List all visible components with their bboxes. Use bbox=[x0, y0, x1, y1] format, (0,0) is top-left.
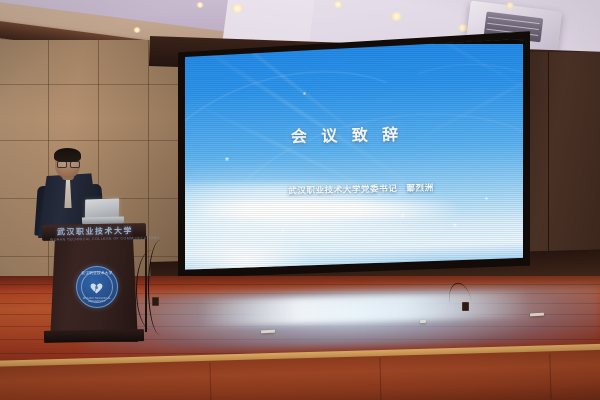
speaker-hair bbox=[54, 148, 81, 162]
sparkle-icon bbox=[303, 92, 306, 95]
university-seal-icon: 武汉职业技术大学 WUHAN TECHNICAL UNIVERSITY bbox=[76, 266, 118, 308]
seal-top-text: 武汉职业技术大学 bbox=[77, 271, 117, 276]
downlight-icon bbox=[231, 4, 244, 13]
downlight-icon bbox=[333, 1, 343, 8]
seal-bottom-text: WUHAN TECHNICAL UNIVERSITY bbox=[77, 297, 117, 303]
downlight-icon bbox=[196, 2, 204, 8]
horizon-glow-core bbox=[192, 202, 462, 218]
microphone-stand-pole bbox=[145, 236, 147, 332]
podium-base bbox=[44, 329, 144, 343]
downlight-icon bbox=[505, 2, 515, 9]
conference-hall-photo: 会 议 致 辞 武汉职业技术大学党委书记 鄢烈洲 bbox=[0, 0, 600, 400]
cable-connector bbox=[152, 297, 159, 306]
floor-marker-tape bbox=[420, 320, 426, 323]
downlight-icon bbox=[390, 12, 403, 21]
sparkle-icon bbox=[453, 223, 457, 227]
eyeglasses-icon bbox=[57, 161, 78, 166]
downlight-icon bbox=[133, 27, 141, 33]
sparkle-icon bbox=[225, 157, 229, 161]
floor-cable bbox=[136, 250, 167, 330]
sparkle-icon bbox=[281, 229, 285, 233]
sparkle-icon bbox=[400, 213, 405, 218]
sparkle-icon bbox=[485, 197, 488, 200]
seal-glyph-icon bbox=[89, 281, 106, 294]
cable-connector bbox=[462, 302, 469, 311]
slide-title: 会 议 致 辞 bbox=[291, 120, 404, 146]
led-video-wall[interactable]: 会 议 致 辞 武汉职业技术大学党委书记 鄢烈洲 bbox=[185, 37, 523, 272]
